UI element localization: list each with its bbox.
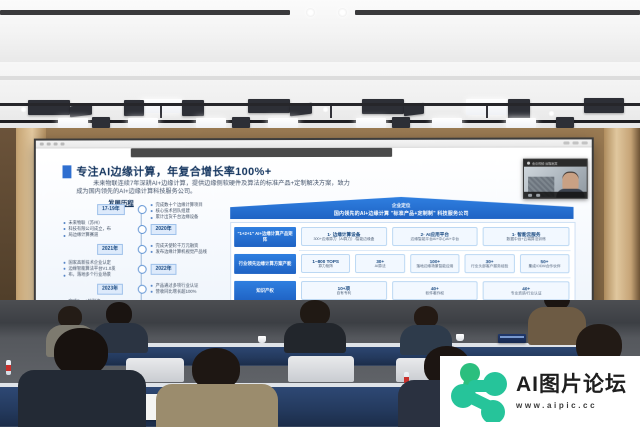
- ceiling-soffit: [0, 76, 640, 80]
- truss-light-2: [128, 118, 158, 128]
- truss-light-4: [268, 118, 298, 128]
- matrix-cell: 40+ 专业资质/行业认证: [483, 281, 570, 300]
- person-head: [54, 328, 108, 376]
- truss-panel-3: [392, 117, 410, 128]
- light-hanger-3: [486, 106, 488, 118]
- timeline-year-4: 2022年: [151, 264, 177, 275]
- truss-light-6: [432, 118, 462, 128]
- timeline-bullets-4: 国家高新技术企业认定 边缘智能算法平台V1.0发 布，落地多个行业场景: [64, 260, 133, 279]
- molecule-node-logo-icon: [448, 362, 510, 422]
- video-call-title: 会议视频·远程嘉宾: [532, 161, 557, 165]
- conference-room-photo: 专注AI边缘计算，年复合增长率100%+ 未来物联连续7年深耕AI+边缘计算，提…: [0, 0, 640, 427]
- timeline-bullets-2: 未来物联（苏州） 科技有限公司成立，布 局边缘计算赛道: [64, 220, 133, 239]
- truss-panel-4: [556, 117, 574, 128]
- video-call-status-dot: [527, 162, 530, 165]
- ceiling-downlight-2: [338, 8, 347, 17]
- cup-1: [258, 336, 266, 343]
- truss-panel-1: [92, 117, 110, 128]
- timeline-year-5: 2023年: [97, 284, 123, 295]
- matrix-cells-capacity: 1~800 TOPS 算力矩阵 30+ AI算法 100+ 落地边缘场景智能应用: [296, 254, 575, 273]
- video-call-window[interactable]: 会议视频·远程嘉宾: [523, 159, 588, 199]
- slide-title: 专注AI边缘计算，年复合增长率100%+: [76, 163, 271, 179]
- matrix-cell: 50+ 集成/ODM合作伙伴: [520, 254, 570, 273]
- truss-light-1: [58, 118, 88, 128]
- ceiling-panel-dark-5: [362, 99, 404, 114]
- cup-2: [456, 334, 464, 341]
- matrix-row-products: "1+2+1" AI+边缘计算产品矩阵 1· 边缘计算设备 300+边缘算力（A…: [231, 224, 574, 249]
- matrix-cell: 30+ AI算法: [355, 254, 405, 273]
- matrix-row-label-ip: 知识产权: [234, 280, 296, 300]
- watermark-text: AI图片论坛 www.aipic.cc: [516, 374, 627, 410]
- matrix-row-label-products: "1+2+1" AI+边缘计算产品矩阵: [234, 227, 296, 247]
- matrix-row-label-capacity: 行业领先边缘计算方案产能: [234, 253, 296, 273]
- watermark-url: www.aipic.cc: [516, 401, 627, 410]
- toolbar-left-icons: [40, 143, 65, 146]
- name-card-1: [498, 334, 526, 343]
- timeline-year-2: 2020年: [151, 224, 177, 235]
- matrix-cell: 1· 边缘计算设备 300+边缘算力（AI算力）/智能边缘盒: [301, 227, 387, 246]
- matrix-cell: 100+ 落地边缘场景智能应用: [410, 254, 460, 273]
- ceiling-truss-front: [0, 103, 640, 106]
- ceiling-panel-dark-4: [248, 99, 290, 113]
- ceiling-spot-2: [322, 106, 329, 113]
- ceiling-rail-right: [355, 10, 640, 15]
- wall-dark-strip-left: [0, 128, 16, 324]
- matrix-cell: 30+ 行业头部客户服务经验: [465, 254, 515, 273]
- video-call-titlebar[interactable]: 会议视频·远程嘉宾: [524, 160, 587, 167]
- truss-light-7: [506, 118, 536, 128]
- matrix-cell: 1~800 TOPS 算力矩阵: [301, 254, 350, 273]
- slide-content: 专注AI边缘计算，年复合增长率100%+ 未来物联连续7年深耕AI+边缘计算，提…: [36, 157, 592, 321]
- video-call-controls[interactable]: [524, 192, 587, 198]
- ceiling-spot-1: [20, 106, 27, 113]
- positioning-banner-main-label: 国内领先的AI+边缘计算 "标准产品+定制制" 科技服务公司: [230, 210, 573, 217]
- chair-1: [288, 356, 354, 382]
- camera-icon[interactable]: [536, 193, 540, 196]
- timeline-year-1: 17-19年: [97, 204, 125, 215]
- matrix-cells-ip: 10+项 自有专利 40+ 软件著作权 40+ 专业资质/行业认证: [296, 281, 575, 300]
- wall-wood-panel-right: [604, 128, 640, 324]
- projection-screen[interactable]: 专注AI边缘计算，年复合增长率100%+ 未来物联连续7年深耕AI+边缘计算，提…: [36, 139, 592, 320]
- title-accent-mark: [63, 165, 72, 178]
- timeline-node-4: [138, 265, 147, 274]
- timeline-year-3: 2021年: [97, 244, 123, 255]
- matrix-cells-products: 1· 边缘计算设备 300+边缘算力（AI算力）/智能边缘盒 2· AI应用平台…: [296, 227, 575, 246]
- person-body: [18, 370, 146, 427]
- light-hanger-1: [160, 106, 162, 118]
- light-hanger-2: [330, 106, 332, 118]
- matrix-cell: 2· AI应用平台 边缘智能平台AI+中心AI+中台: [392, 227, 478, 246]
- timeline-bullets-5: 产品通过多项行业认证 营收同比增长超100%: [151, 283, 213, 295]
- water-bottle-1: [6, 360, 11, 375]
- timeline-node-3: [138, 245, 147, 254]
- truss-panel-2: [232, 117, 250, 128]
- watermark: AI图片论坛 www.aipic.cc: [440, 356, 640, 427]
- video-call-feed: [524, 167, 587, 198]
- matrix-row-capacity: 行业领先边缘计算方案产能 1~800 TOPS 算力矩阵 30+ AI算法 10…: [231, 251, 574, 276]
- matrix-cell: 40+ 软件著作权: [392, 281, 478, 300]
- watermark-title: AI图片论坛: [516, 374, 627, 395]
- timeline-bullets-3: 完成天使轮千万元融资 发布边缘计算机视觉产品线: [151, 243, 213, 255]
- ceiling-rail-left: [0, 10, 290, 15]
- positioning-banner-top-label: 企业定位: [230, 203, 573, 209]
- timeline-node-5: [138, 285, 147, 294]
- timeline-node-2: [138, 225, 147, 234]
- toolbar-right-icons: [563, 141, 587, 144]
- capability-matrix: "1+2+1" AI+边缘计算产品矩阵 1· 边缘计算设备 300+边缘算力（A…: [230, 222, 575, 307]
- ceiling-downlight-1: [306, 8, 315, 17]
- positioning-banner: 企业定位 国内领先的AI+边缘计算 "标准产品+定制制" 科技服务公司: [230, 197, 573, 219]
- matrix-cell: 1· 智能云服务 数据中台+云端算法训练: [483, 227, 570, 246]
- timeline-bullets-1: 完成数十个边缘计算项目 核心技术团队组建 累计出货千台边缘设备: [151, 202, 213, 221]
- slide-subtitle-line2: 成为国内领先的AI+边缘计算科技服务公司。: [76, 186, 196, 195]
- timeline-node-1: [138, 205, 147, 214]
- person-body: [284, 323, 346, 353]
- matrix-cell: 10+项 自有专利: [301, 281, 387, 300]
- presentation-dark-header-bar: [131, 148, 392, 157]
- ceiling-spot-3: [548, 110, 555, 117]
- mic-icon[interactable]: [528, 193, 532, 196]
- truss-light-3: [196, 118, 226, 128]
- person-body: [156, 384, 278, 427]
- truss-light-5: [356, 118, 386, 128]
